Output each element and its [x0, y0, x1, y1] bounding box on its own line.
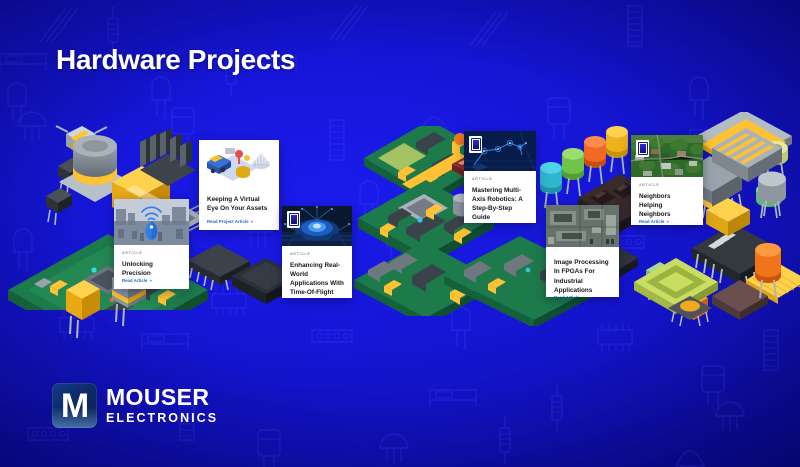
mouser-electronics-logo: M MOUSER ELECTRONICS	[52, 383, 218, 428]
card-media-aerial-neighborhood-photo	[631, 135, 703, 177]
card-read-link-label: Read Article	[639, 219, 664, 224]
card-body: Keeping A Virtual Eye On Your Assets Rea…	[199, 184, 279, 230]
mouser-subname: ELECTRONICS	[106, 412, 218, 425]
card-body: ARTICLE Neighbors Helping Neighbors Read…	[631, 177, 703, 225]
card-title: Keeping A Virtual Eye On Your Assets	[207, 195, 271, 214]
card-eyebrow: ARTICLE	[122, 252, 181, 256]
mouser-m-mark-icon: M	[52, 383, 97, 428]
chevron-right-icon: »	[666, 219, 668, 224]
card-read-link-label: Read Project Article	[207, 219, 249, 224]
card-read-link[interactable]: Read Article»	[554, 295, 611, 297]
card-read-link[interactable]: Read Article»	[639, 219, 695, 224]
card-media-lidar-vehicle-photo	[282, 206, 352, 246]
card-media-isometric-asset-tracking	[199, 140, 279, 184]
card-read-link-label: Read Article	[554, 295, 579, 297]
card-time-of-flight[interactable]: ARTICLE Enhancing Real-World Application…	[282, 206, 352, 298]
card-read-link-label: Read Article	[122, 278, 147, 283]
mouser-wordmark: MOUSER ELECTRONICS	[106, 386, 218, 425]
card-title: Unlocking Precision	[122, 260, 181, 279]
card-title: Mastering Multi-Axis Robotics: A Step-By…	[472, 186, 528, 223]
mouser-logo-badge-icon	[287, 211, 300, 228]
card-eyebrow: ARTICLE	[472, 178, 528, 182]
chevron-right-icon: »	[149, 278, 151, 283]
chevron-right-icon: »	[251, 219, 253, 224]
card-body: Image Processing In FPGAs For Industrial…	[546, 247, 619, 297]
card-read-link[interactable]: Read Article»	[122, 278, 181, 283]
card-title: Enhancing Real-World Applications With T…	[290, 261, 344, 298]
card-unlocking-precision[interactable]: ARTICLE Unlocking Precision Read Article…	[114, 199, 189, 289]
card-media-fpga-board-photo	[546, 205, 619, 247]
card-title: Neighbors Helping Neighbors	[639, 192, 695, 220]
card-eyebrow: ARTICLE	[639, 184, 695, 188]
card-media-robot-arm-wireframe	[464, 131, 536, 171]
chevron-right-icon: »	[581, 295, 583, 297]
card-fpga-image-processing[interactable]: Image Processing In FPGAs For Industrial…	[546, 205, 619, 297]
page-title: Hardware Projects	[56, 44, 295, 76]
card-body: ARTICLE Unlocking Precision Read Article…	[114, 245, 189, 289]
mouser-m-letter: M	[61, 389, 88, 423]
mouser-logo-badge-icon	[469, 136, 482, 153]
poster-canvas: Hardware Projects	[0, 0, 800, 467]
card-eyebrow: ARTICLE	[290, 253, 344, 257]
card-body: ARTICLE Enhancing Real-World Application…	[282, 246, 352, 298]
card-virtual-eye[interactable]: Keeping A Virtual Eye On Your Assets Rea…	[199, 140, 279, 230]
card-body: ARTICLE Mastering Multi-Axis Robotics: A…	[464, 171, 536, 223]
mouser-logo-badge-icon	[636, 140, 649, 157]
card-media-warehouse-sensor-photo	[114, 199, 189, 245]
mouser-name: MOUSER	[106, 386, 218, 409]
card-read-link[interactable]: Read Project Article»	[207, 219, 271, 224]
card-multi-axis-robotics[interactable]: ARTICLE Mastering Multi-Axis Robotics: A…	[464, 131, 536, 223]
card-neighbors-helping-neighbors[interactable]: ARTICLE Neighbors Helping Neighbors Read…	[631, 135, 703, 225]
card-title: Image Processing In FPGAs For Industrial…	[554, 258, 611, 295]
